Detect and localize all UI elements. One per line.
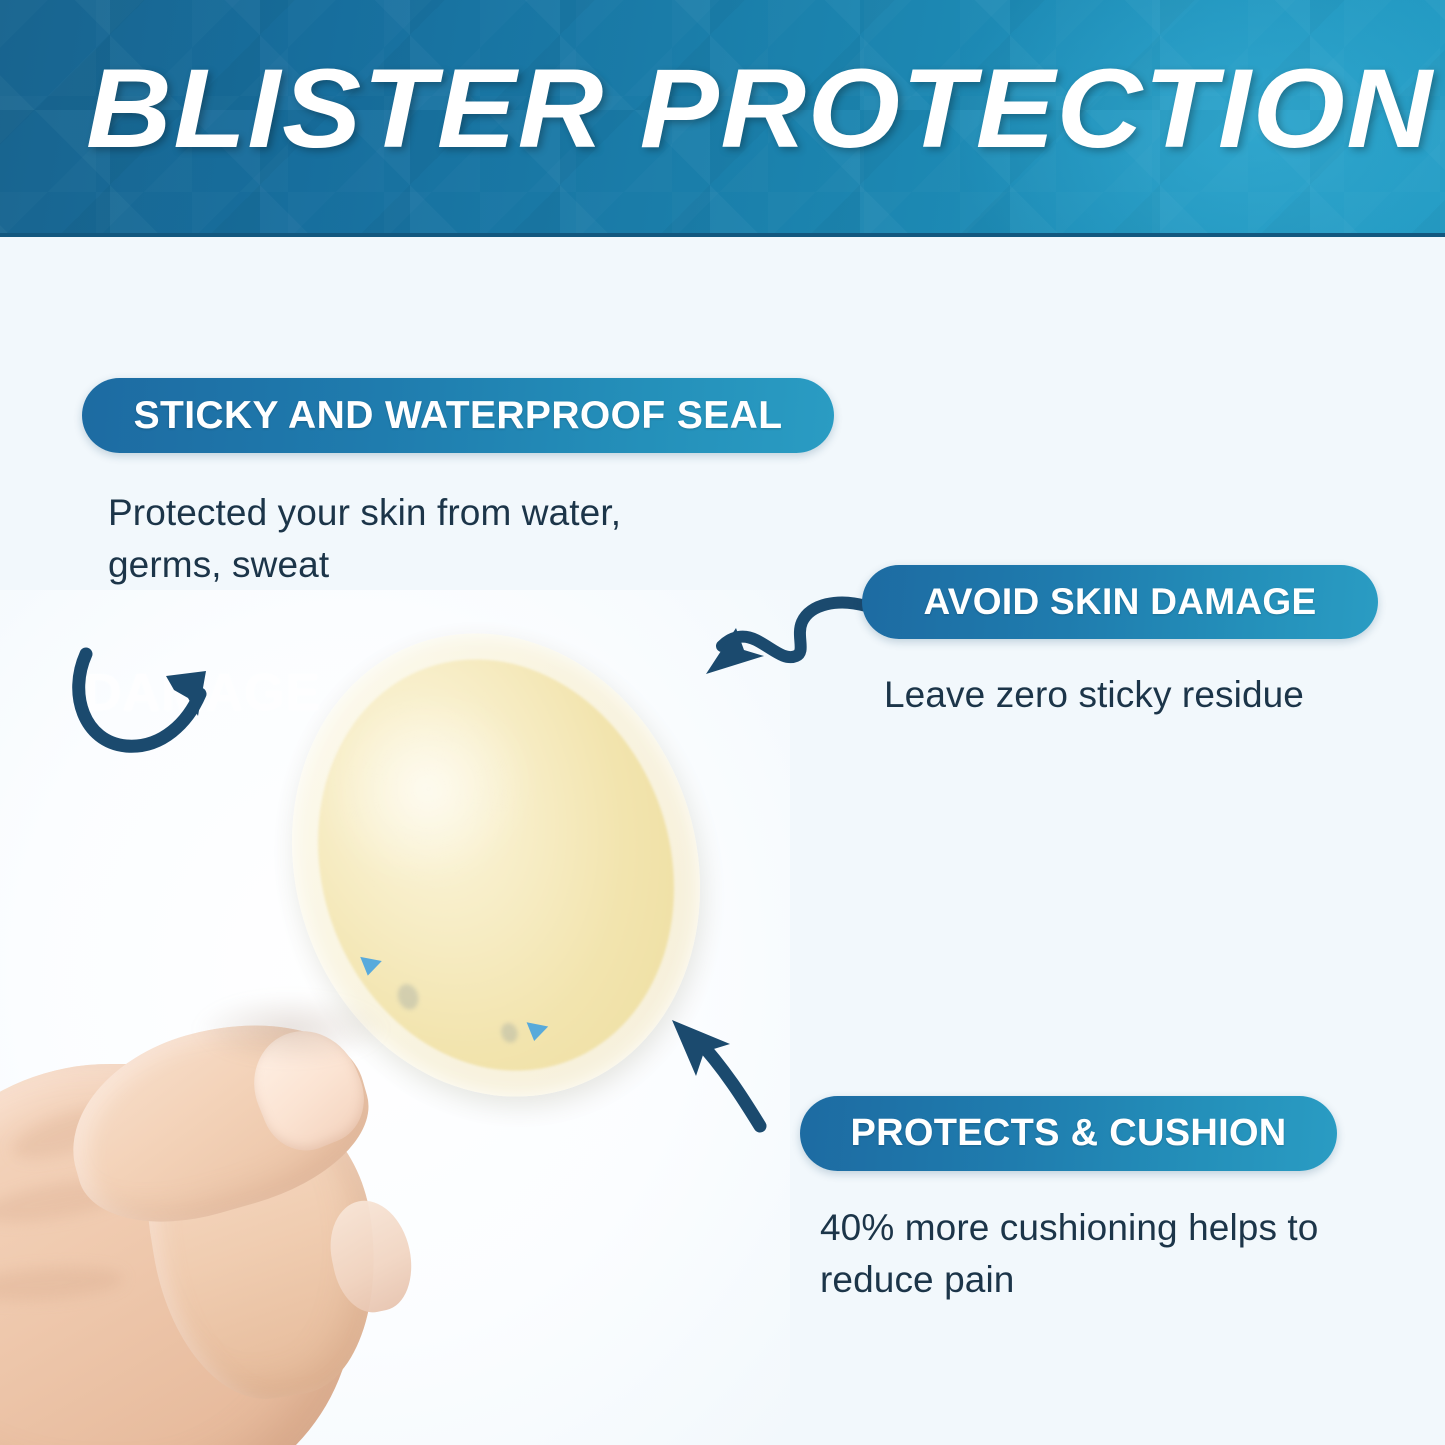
curved-looping-arrow-down-left-icon xyxy=(698,578,873,693)
infographic-page: BLISTER PROTECTION DAMAGE xyxy=(0,0,1445,1445)
feature-pill-protects-cushion[interactable]: PROTECTS & CUSHION xyxy=(800,1096,1337,1171)
grip-shadow xyxy=(196,994,386,1064)
hand-holding-pad xyxy=(0,968,564,1445)
feature-description-avoid-skin-damage: Leave zero sticky residue xyxy=(884,669,1404,721)
feature-pill-avoid-skin-damage[interactable]: AVOID SKIN DAMAGE xyxy=(862,565,1378,639)
feature-description-protects-cushion: 40% more cushioning helps to reduce pain xyxy=(820,1202,1340,1306)
feature-description-sticky-waterproof-seal: Protected your skin from water, germs, s… xyxy=(108,487,728,591)
page-title: BLISTER PROTECTION xyxy=(86,50,1445,168)
header-banner: BLISTER PROTECTION xyxy=(0,0,1445,237)
feature-pill-sticky-waterproof-seal[interactable]: STICKY AND WATERPROOF SEAL xyxy=(82,378,834,453)
curved-arrow-up-right-icon xyxy=(70,638,260,770)
